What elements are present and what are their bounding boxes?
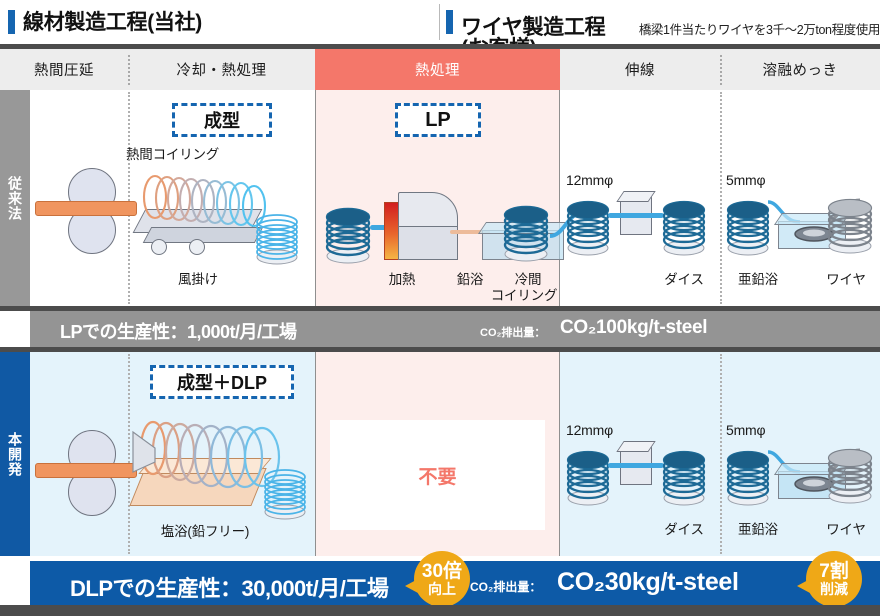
banner-conventional-productivity: LPでの生産性：1,000t/月/工場 (60, 318, 297, 344)
column-header-heat-treat[interactable]: 熱処理 (315, 49, 560, 90)
coil-drawing-out-b-icon (658, 450, 710, 506)
label-wire-dia-out-b: 5mmφ (726, 422, 765, 438)
callout-forming: 成型 (172, 103, 272, 137)
left-title: 線材製造工程(当社) (23, 12, 202, 33)
dlp-output-coil-icon (259, 468, 311, 520)
label-wire-a: ワイヤ (826, 268, 866, 288)
label-wire-dia-out-a: 5mmφ (726, 172, 765, 188)
illustration-rolling-mill-b (40, 432, 130, 512)
cone-icon (129, 428, 163, 476)
side-label-conventional: 従来法 (0, 90, 30, 306)
header-divider-1 (128, 55, 130, 85)
footer-rule (0, 605, 880, 616)
label-air-cooling: 風掛け (178, 268, 218, 288)
badge-co2: 7割 削減 (806, 551, 862, 607)
final-wire-coil-a-icon (820, 196, 876, 256)
row-b-divider-3 (559, 352, 560, 556)
not-required-box: 不要 (330, 420, 545, 530)
badge-productivity: 30倍 向上 (414, 551, 470, 607)
label-salt-bath: 塩浴(鉛フリー) (161, 520, 249, 540)
badge-productivity-line2: 向上 (428, 582, 456, 596)
label-wire-dia-in-b: 12mmφ (566, 422, 613, 438)
banner-conventional-co2-prefix: CO₂排出量： (480, 324, 545, 340)
row-a-divider-2 (315, 90, 316, 306)
callout-forming-dlp: 成型＋DLP (150, 365, 294, 399)
title-right-group: ワイヤ製造工程(お客様) 橋梁1件当たりワイヤを3千〜2万ton程度使用 (440, 0, 880, 44)
row-developed-side: 本開発 (0, 352, 30, 556)
label-die-a: ダイス (664, 268, 704, 288)
label-die-b: ダイス (664, 518, 704, 538)
banner-developed-co2-value: CO₂30kg/t-steel (557, 568, 739, 597)
coil-drawing-out-a-icon (658, 200, 710, 256)
coil-output-icon (498, 204, 554, 262)
label-lead-bath: 鉛浴 (457, 268, 484, 288)
banner-conventional-co2-value: CO₂100kg/t-steel (560, 317, 707, 339)
label-wire-dia-in-a: 12mmφ (566, 172, 613, 188)
banner-developed-co2-prefix: CO₂排出量： (470, 578, 541, 595)
coil-stack-icon (251, 213, 303, 265)
label-zinc-bath-a: 亜鉛浴 (738, 268, 778, 288)
illustration-cooling-bed (133, 165, 303, 265)
blue-tick-icon-2 (446, 10, 453, 34)
label-zinc-bath-b: 亜鉛浴 (738, 518, 778, 538)
label-heating: 加熱 (389, 268, 416, 288)
label-wire-b: ワイヤ (826, 518, 866, 538)
title-left-group: 線材製造工程(当社) (0, 0, 440, 44)
side-label-developed: 本開発 (0, 352, 30, 556)
final-wire-coil-b-icon (820, 446, 876, 506)
column-header-cooling-heat-treat[interactable]: 冷却・熱処理 (128, 49, 315, 90)
badge-co2-line1: 7割 (819, 562, 849, 581)
column-header-drawing[interactable]: 伸線 (560, 49, 720, 90)
blue-tick-icon (8, 10, 15, 34)
wire-through-die-b (608, 463, 664, 468)
illustration-rolling-mill (40, 170, 130, 250)
row-a-divider-4 (720, 92, 722, 304)
banner-developed-productivity: DLPでの生産性：30,000t/月/工場 (70, 571, 388, 603)
callout-lp: LP (395, 103, 481, 137)
header-divider-4 (720, 55, 722, 85)
label-hot-coiling: 熱間コイリング (126, 143, 219, 163)
process-diagram: 線材製造工程(当社) ワイヤ製造工程(お客様) 橋梁1件当たりワイヤを3千〜2万… (0, 0, 880, 616)
right-subtitle: 橋梁1件当たりワイヤを3千〜2万ton程度使用 (639, 19, 880, 38)
column-header-band: 熱間圧延 冷却・熱処理 熱処理 伸線 溶融めっき (0, 49, 880, 90)
row-conventional-side: 従来法 (0, 90, 30, 306)
title-bar: 線材製造工程(当社) ワイヤ製造工程(お客様) 橋梁1件当たりワイヤを3千〜2万… (0, 0, 880, 44)
badge-productivity-line1: 30倍 (422, 562, 462, 581)
row-b-divider-2 (315, 352, 316, 556)
wire-through-die-a (608, 213, 664, 218)
coil-input-icon (320, 206, 376, 264)
label-cold-coiling-2: コイリング (491, 284, 558, 304)
coil-drawing-in-b-icon (562, 450, 614, 506)
banner-conventional: LPでの生産性：1,000t/月/工場 CO₂排出量： CO₂100kg/t-s… (30, 311, 880, 347)
column-header-hot-dip[interactable]: 溶融めっき (720, 49, 880, 90)
illustration-salt-bath (133, 410, 313, 520)
coil-drawing-in-a-icon (562, 200, 614, 256)
column-header-hot-rolling[interactable]: 熱間圧延 (0, 49, 128, 90)
badge-co2-line2: 削減 (820, 582, 848, 596)
